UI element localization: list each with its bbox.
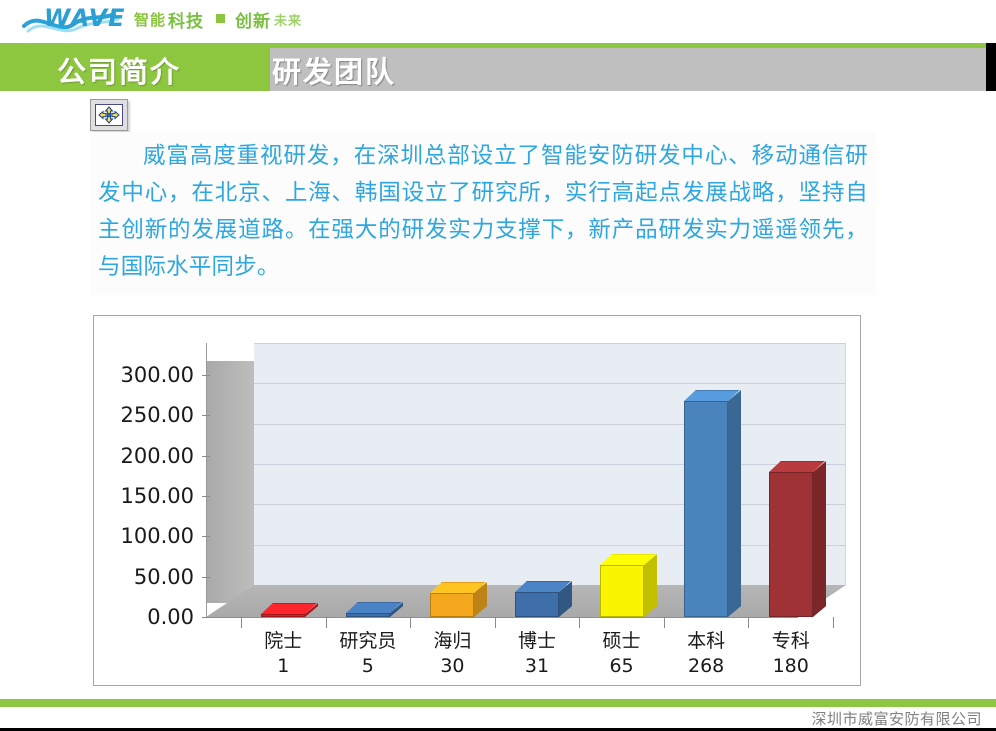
- chart-left-wall: [206, 361, 254, 603]
- chart-bar-front: [346, 613, 390, 617]
- chart-bar-side: [813, 461, 826, 617]
- x-axis-category: 专科180: [748, 629, 833, 679]
- chart-bar: [430, 593, 474, 617]
- x-axis-category: 硕士65: [579, 629, 664, 679]
- chart-y-tick: [202, 536, 210, 537]
- chart-gridline: [254, 424, 846, 425]
- chart-x-tick: [664, 617, 665, 628]
- y-axis-tick-label: 0.00: [147, 605, 194, 629]
- four-arrows-move-icon: [95, 104, 123, 126]
- description-text-block: 威富高度重视研发，在深圳总部设立了智能安防研发中心、移动通信研发中心，在北京、上…: [90, 132, 876, 295]
- chart-x-tick: [833, 617, 834, 628]
- x-axis-category-name: 院士: [241, 629, 326, 654]
- chart-bar-front: [515, 592, 559, 617]
- y-axis-tick-label: 250.00: [121, 403, 194, 427]
- y-axis-tick-label: 100.00: [121, 524, 194, 548]
- subsection-title: 研发团队: [272, 49, 396, 91]
- chart-bar-front: [769, 472, 813, 617]
- chart-x-tick: [241, 617, 242, 628]
- x-axis-category-value: 5: [326, 654, 411, 679]
- chart-bar: [261, 614, 305, 617]
- chart-y-tick: [202, 375, 210, 376]
- chart-x-axis: [206, 617, 798, 618]
- x-axis-category-value: 65: [579, 654, 664, 679]
- brand-tagline: 智能 科技 创新 未来: [134, 7, 302, 31]
- x-axis-category-name: 硕士: [579, 629, 664, 654]
- tagline-part3: 创新: [235, 7, 271, 32]
- tagline-part1: 智能: [134, 9, 166, 30]
- y-axis-tick-label: 200.00: [121, 444, 194, 468]
- x-axis-category-value: 180: [748, 654, 833, 679]
- title-bar-green-accent: [270, 43, 986, 48]
- slide-canvas: WAVE 智能 科技 创新 未来 公司简介 研发团队: [0, 0, 996, 731]
- tagline-square-icon: [216, 14, 225, 23]
- x-axis-category-value: 30: [410, 654, 495, 679]
- chart-y-tick: [202, 456, 210, 457]
- footer-company-name: 深圳市威富安防有限公司: [811, 708, 982, 729]
- chart-bar: [346, 613, 390, 617]
- move-tool-button[interactable]: [90, 99, 128, 131]
- x-axis-category: 海归30: [410, 629, 495, 679]
- x-axis-category-value: 1: [241, 654, 326, 679]
- tagline-part4: 未来: [274, 10, 302, 29]
- chart-bar: [769, 472, 813, 617]
- chart-y-tick: [202, 577, 210, 578]
- chart-x-tick: [495, 617, 496, 628]
- chart-y-tick: [202, 617, 210, 618]
- tagline-part2: 科技: [168, 7, 204, 32]
- footer-green-rule: [0, 699, 996, 707]
- chart-x-tick: [748, 617, 749, 628]
- education-bar-chart: 0.0050.00100.00150.00200.00250.00300.00 …: [93, 315, 861, 686]
- x-axis-category-name: 研究员: [326, 629, 411, 654]
- chart-x-tick: [410, 617, 411, 628]
- x-axis-category: 研究员5: [326, 629, 411, 679]
- chart-bar-front: [261, 614, 305, 617]
- y-axis-tick-label: 300.00: [121, 363, 194, 387]
- chart-y-tick: [202, 415, 210, 416]
- x-axis-category-value: 268: [664, 654, 749, 679]
- chart-y-tick: [202, 496, 210, 497]
- y-axis-tick-label: 50.00: [134, 565, 194, 589]
- chart-gridline: [254, 343, 846, 344]
- chart-gridline: [254, 504, 846, 505]
- chart-bar-side: [728, 390, 741, 617]
- x-axis-category-name: 海归: [410, 629, 495, 654]
- chart-bar-front: [430, 593, 474, 617]
- section-title-bar: 公司简介 研发团队: [0, 43, 996, 91]
- title-bar-right-edge: [986, 43, 996, 91]
- section-title: 公司简介: [57, 49, 181, 91]
- y-axis-tick-label: 150.00: [121, 484, 194, 508]
- logo-band: WAVE 智能 科技 创新 未来: [0, 0, 996, 43]
- x-axis-category-name: 专科: [748, 629, 833, 654]
- chart-gridline: [254, 545, 846, 546]
- chart-bar: [600, 565, 644, 617]
- y-axis-labels: 0.0050.00100.00150.00200.00250.00300.00: [104, 316, 194, 687]
- chart-bar: [684, 401, 728, 617]
- chart-bar-front: [684, 401, 728, 617]
- x-axis-category: 院士1: [241, 629, 326, 679]
- chart-gridline: [254, 464, 846, 465]
- chart-x-tick: [579, 617, 580, 628]
- description-paragraph: 威富高度重视研发，在深圳总部设立了智能安防研发中心、移动通信研发中心，在北京、上…: [98, 138, 868, 286]
- x-axis-category: 博士31: [495, 629, 580, 679]
- svg-text:WAVE: WAVE: [44, 4, 126, 32]
- chart-plot-area: [206, 343, 846, 623]
- x-axis-category-value: 31: [495, 654, 580, 679]
- chart-bar-front: [600, 565, 644, 617]
- x-axis-category: 本科268: [664, 629, 749, 679]
- wave-logo: WAVE: [22, 0, 134, 43]
- x-axis-category-name: 本科: [664, 629, 749, 654]
- chart-bar: [515, 592, 559, 617]
- x-axis-labels: 院士1研究员5海归30博士31硕士65本科268专科180: [206, 629, 846, 687]
- x-axis-category-name: 博士: [495, 629, 580, 654]
- chart-gridline: [254, 383, 846, 384]
- chart-x-tick: [326, 617, 327, 628]
